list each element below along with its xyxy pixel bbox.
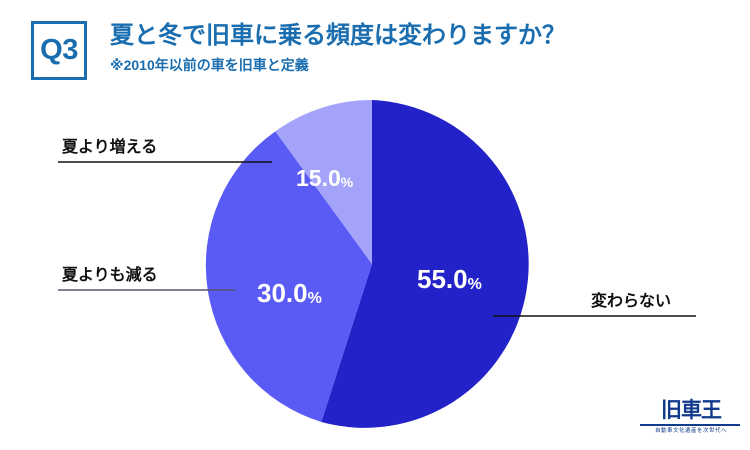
pie-percent-sign-decrease: % — [308, 290, 322, 307]
screenshot-canvas: Q3 夏と冬で旧車に乗る頻度は変わりますか？ ※2010年以前の車を旧車と定義 … — [0, 0, 750, 450]
pie-chart-svg: 55.0% 30.0% 15.0% — [0, 0, 750, 450]
pie-chart: 55.0% 30.0% 15.0% 夏より増える 夏よりも減る 変わらない — [0, 0, 750, 450]
brand-logo-rule — [640, 424, 740, 426]
callout-label-same: 変わらない — [591, 294, 671, 310]
pie-value-same: 55.0 — [417, 264, 468, 294]
callout-label-decrease: 夏よりも減る — [62, 268, 158, 284]
pie-percent-sign-increase: % — [341, 174, 354, 190]
pie-value-increase: 15.0 — [296, 165, 341, 191]
brand-logo-mark: 旧車王 — [640, 400, 742, 421]
callout-label-increase: 夏より増える — [62, 140, 157, 156]
brand-logo-tagline: 自動車文化遺産を次世代へ — [640, 429, 742, 435]
pie-percent-sign-same: % — [468, 276, 482, 293]
brand-logo: 旧車王 自動車文化遺産を次世代へ — [640, 400, 742, 442]
pie-value-decrease: 30.0 — [257, 278, 308, 308]
